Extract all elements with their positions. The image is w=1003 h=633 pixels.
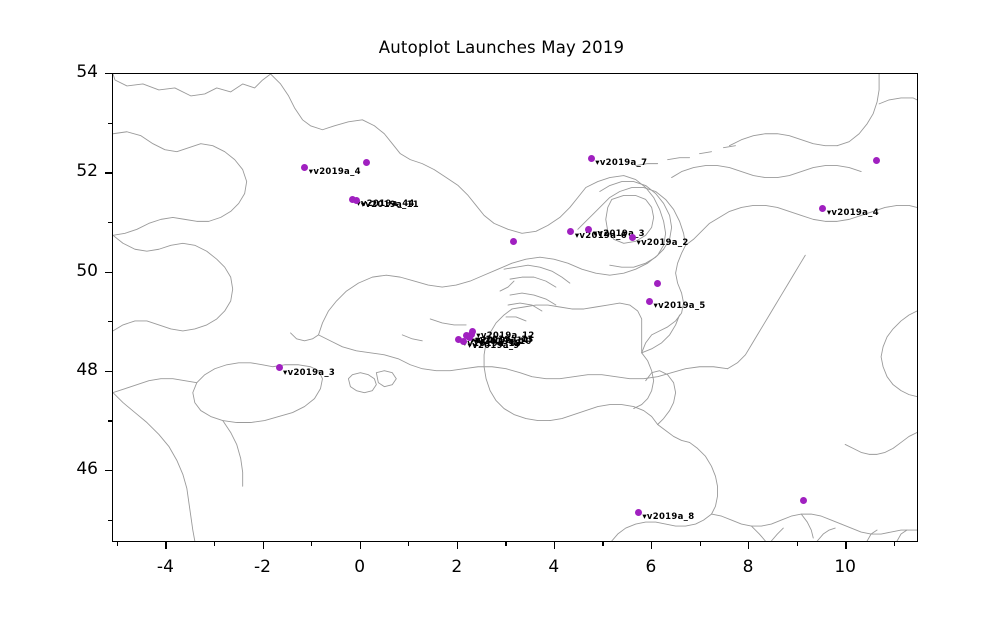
x-tick-major — [457, 542, 458, 549]
x-tick-minor — [700, 542, 701, 546]
y-tick-minor — [108, 123, 112, 124]
x-tick-label: 10 — [834, 557, 856, 577]
y-tick-minor — [108, 420, 112, 421]
x-tick-label: 0 — [354, 557, 365, 577]
plot-area[interactable]: ▾v2019a_4▾v2019a_44▾v2019a_11▾v2019a_3▾v… — [112, 73, 918, 542]
data-point[interactable] — [635, 509, 642, 516]
data-point[interactable] — [353, 197, 360, 204]
x-tick-minor — [797, 542, 798, 546]
x-tick-label: -2 — [254, 557, 271, 577]
x-tick-minor — [505, 542, 506, 546]
y-tick-minor — [108, 222, 112, 223]
data-point[interactable] — [466, 334, 473, 341]
y-tick-label: 48 — [34, 360, 98, 380]
x-tick-minor — [894, 542, 895, 546]
x-tick-major — [360, 542, 361, 549]
data-point[interactable] — [363, 159, 370, 166]
y-tick-label: 54 — [34, 62, 98, 82]
basemap-coastlines — [113, 74, 917, 541]
x-tick-major — [845, 542, 846, 549]
y-tick-minor — [108, 520, 112, 521]
x-tick-major — [748, 542, 749, 549]
x-tick-label: -4 — [157, 557, 174, 577]
x-tick-minor — [408, 542, 409, 546]
y-tick-label: 46 — [34, 459, 98, 479]
y-tick-major — [105, 371, 112, 372]
data-point[interactable] — [819, 205, 826, 212]
y-tick-minor — [108, 321, 112, 322]
x-tick-major — [165, 542, 166, 549]
y-tick-label: 50 — [34, 261, 98, 281]
y-tick-label: 52 — [34, 161, 98, 181]
x-tick-major — [554, 542, 555, 549]
y-tick-major — [105, 470, 112, 471]
figure-canvas: Autoplot Launches May 2019 — [0, 0, 1003, 633]
x-tick-minor — [117, 542, 118, 546]
x-tick-minor — [602, 542, 603, 546]
x-tick-label: 2 — [451, 557, 462, 577]
x-tick-major — [263, 542, 264, 549]
y-tick-major — [105, 73, 112, 74]
x-tick-minor — [214, 542, 215, 546]
y-tick-major — [105, 172, 112, 173]
y-tick-major — [105, 272, 112, 273]
x-tick-label: 4 — [548, 557, 559, 577]
x-tick-major — [651, 542, 652, 549]
x-tick-label: 6 — [646, 557, 657, 577]
data-point[interactable] — [588, 155, 595, 162]
data-point[interactable] — [276, 364, 283, 371]
page-title: Autoplot Launches May 2019 — [0, 38, 1003, 57]
x-tick-label: 8 — [743, 557, 754, 577]
x-tick-minor — [311, 542, 312, 546]
data-point[interactable] — [646, 298, 653, 305]
data-point[interactable] — [460, 338, 467, 345]
